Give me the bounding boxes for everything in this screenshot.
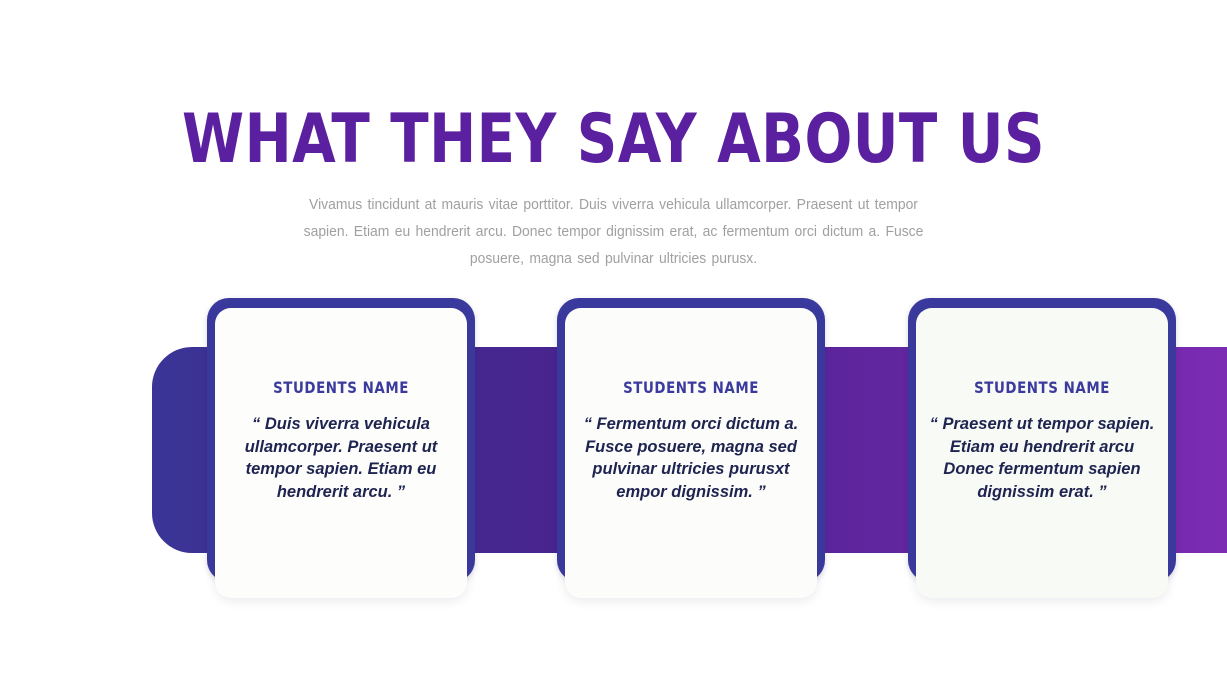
student-name-label: STUDENTS NAME	[574, 378, 808, 397]
card-body: STUDENTS NAME “ Duis viverra vehicula ul…	[215, 308, 467, 598]
card-body: STUDENTS NAME “ Fermentum orci dictum a.…	[565, 308, 817, 598]
slide-subtitle: Vivamus tincidunt at mauris vitae portti…	[294, 192, 932, 273]
testimonial-card-3[interactable]: STUDENTS NAME “ Praesent ut tempor sapie…	[908, 298, 1176, 582]
testimonial-card-2[interactable]: STUDENTS NAME “ Fermentum orci dictum a.…	[557, 298, 825, 582]
student-name-label: STUDENTS NAME	[224, 378, 458, 397]
testimonial-slide: WHAT THEY SAY ABOUT US Vivamus tincidunt…	[0, 0, 1227, 690]
card-body: STUDENTS NAME “ Praesent ut tempor sapie…	[916, 308, 1168, 598]
student-name-label: STUDENTS NAME	[925, 378, 1159, 397]
testimonial-card-1[interactable]: STUDENTS NAME “ Duis viverra vehicula ul…	[207, 298, 475, 582]
testimonial-quote: “ Fermentum orci dictum a. Fusce posuere…	[575, 413, 807, 503]
testimonial-quote: “ Praesent ut tempor sapien. Etiam eu he…	[926, 413, 1158, 503]
testimonial-quote: “ Duis viverra vehicula ullamcorper. Pra…	[225, 413, 457, 503]
page-title: WHAT THEY SAY ABOUT US	[49, 103, 1178, 177]
